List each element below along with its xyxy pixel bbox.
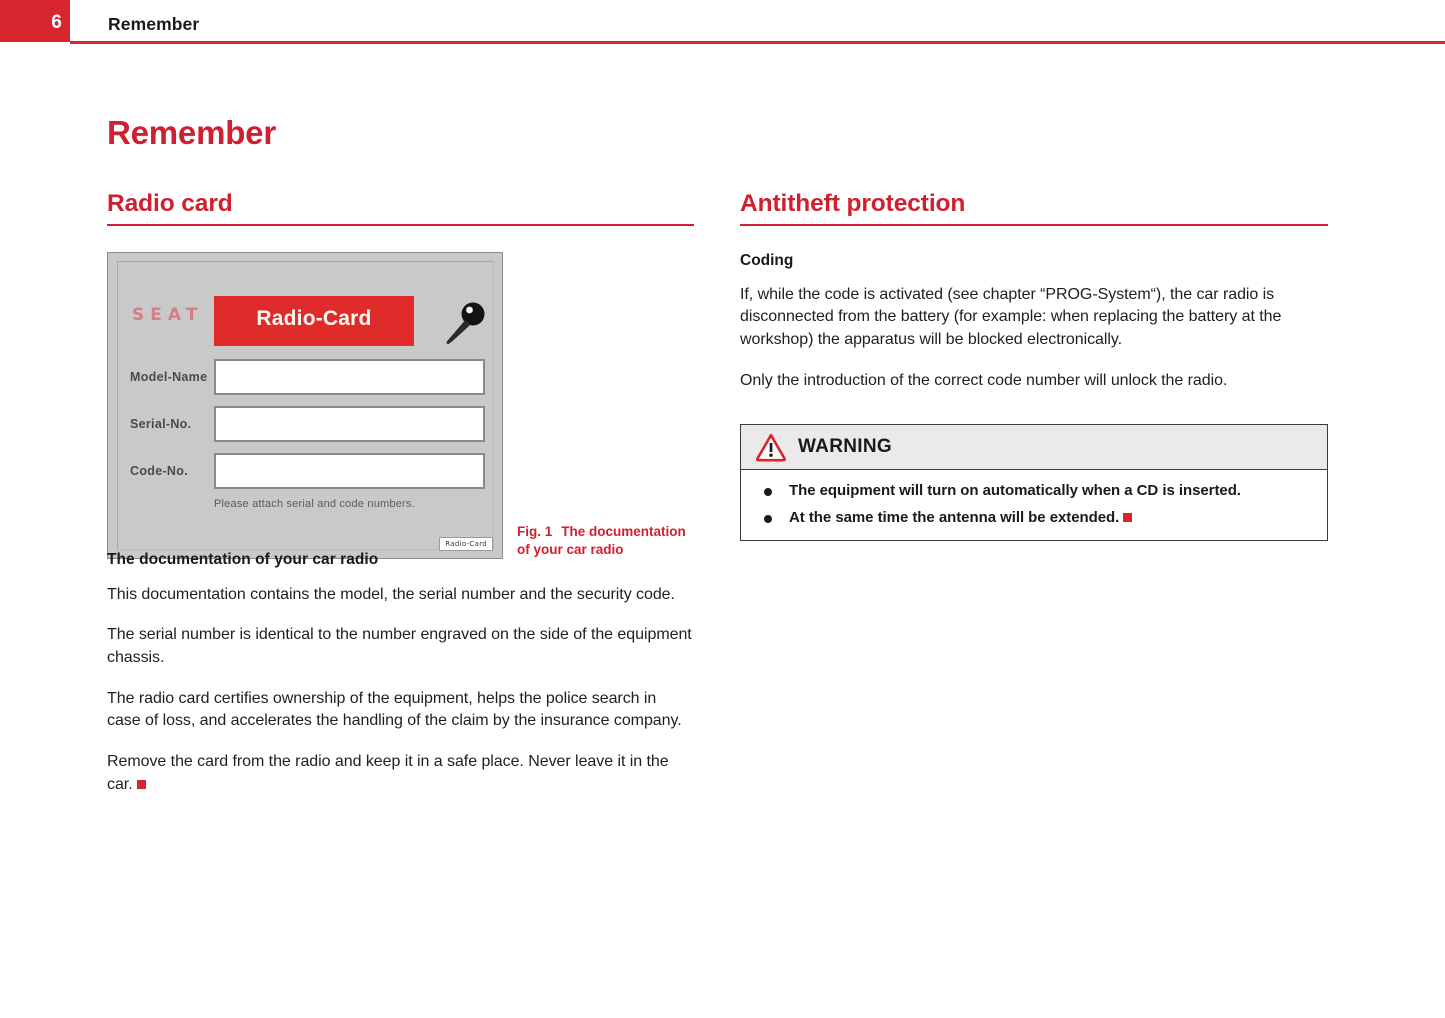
card-field-serial-no: Serial-No. [130, 406, 485, 442]
warning-item-text: At the same time the antenna will be ext… [789, 509, 1119, 526]
left-column-body: The documentation of your car radio This… [107, 551, 694, 797]
radio-card-illustration: SEAT Radio-Card Model-Name Serial-No. [107, 252, 503, 559]
paragraph-text: Remove the card from the radio and keep … [107, 753, 669, 793]
header-divider [70, 41, 1445, 44]
paragraph-with-end-marker: Remove the card from the radio and keep … [107, 751, 694, 796]
page-number: 6 [0, 12, 62, 34]
paragraph: Only the introduction of the correct cod… [740, 370, 1328, 393]
sub-head-coding: Coding [740, 252, 1328, 270]
section-divider-right [740, 224, 1328, 226]
bullet-icon [764, 488, 772, 496]
left-column: Radio card SEAT Radio-Card Model-Name [107, 190, 694, 797]
warning-triangle-icon [755, 432, 787, 462]
card-field-code-no: Code-No. [130, 453, 485, 489]
warning-box-body: The equipment will turn on automatically… [741, 470, 1327, 540]
paragraph: This documentation contains the model, t… [107, 584, 694, 607]
seat-logo: SEAT [132, 305, 203, 325]
radio-card-banner-label: Radio-Card [214, 307, 414, 331]
card-field-box [214, 453, 485, 489]
section-end-marker [137, 780, 146, 789]
section-title-radio-card: Radio card [107, 190, 694, 224]
warning-label: WARNING [798, 436, 892, 458]
section-end-marker [1123, 513, 1132, 522]
bullet-icon [764, 515, 772, 523]
paragraph: The serial number is identical to the nu… [107, 624, 694, 669]
key-icon [444, 299, 488, 345]
page-header: 6 Remember [0, 0, 1445, 45]
warning-item-text: The equipment will turn on automatically… [789, 482, 1241, 499]
warning-box: WARNING The equipment will turn on autom… [740, 424, 1328, 541]
card-field-box [214, 359, 485, 395]
card-field-label: Code-No. [130, 464, 188, 478]
chapter-title: Remember [107, 114, 276, 152]
warning-box-header: WARNING [741, 425, 1327, 470]
paragraph: If, while the code is activated (see cha… [740, 284, 1328, 352]
running-header-title: Remember [108, 14, 199, 35]
sub-head-documentation: The documentation of your car radio [107, 551, 694, 569]
card-field-box [214, 406, 485, 442]
section-divider-left [107, 224, 694, 226]
paragraph: The radio card certifies ownership of th… [107, 688, 694, 733]
card-reference-code: Radio-Card [439, 537, 493, 551]
figure-caption-label: Fig. 1 [517, 524, 552, 539]
card-note: Please attach serial and code numbers. [214, 498, 415, 510]
right-column: Antitheft protection Coding If, while th… [740, 190, 1328, 541]
card-field-model-name: Model-Name [130, 359, 485, 395]
card-field-label: Serial-No. [130, 417, 191, 431]
warning-list-item: The equipment will turn on automatically… [755, 480, 1313, 503]
radio-card-banner: Radio-Card [214, 296, 414, 346]
card-field-label: Model-Name [130, 370, 207, 384]
section-title-antitheft: Antitheft protection [740, 190, 1328, 224]
warning-list-item: At the same time the antenna will be ext… [755, 507, 1313, 530]
